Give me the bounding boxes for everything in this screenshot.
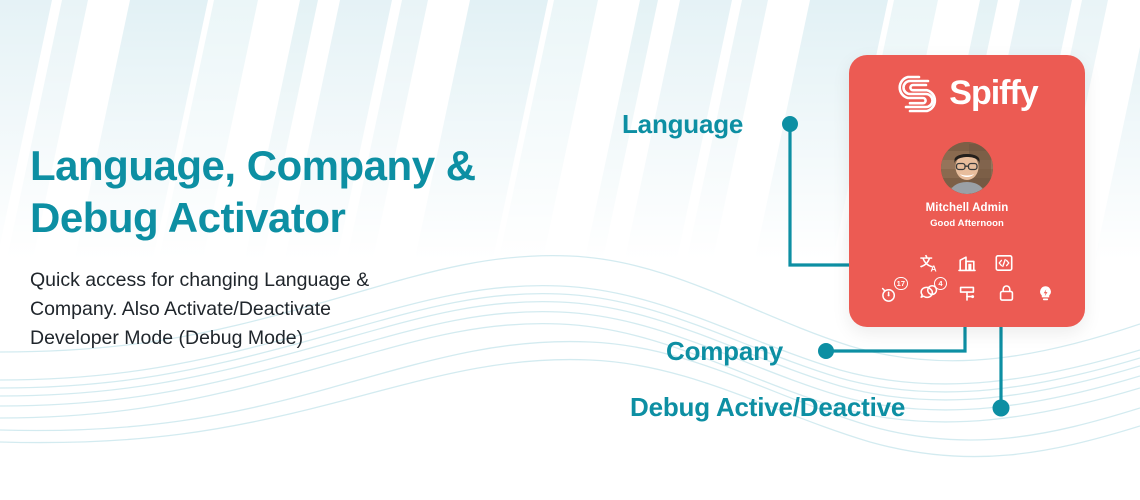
connector-dot-company — [818, 343, 834, 359]
user-greeting: Good Afternoon — [849, 218, 1085, 229]
card-status-icon-row: 17 4 — [849, 283, 1085, 303]
avatar-photo — [941, 142, 993, 194]
spiffy-user-card: Spiffy — [849, 55, 1085, 327]
user-name: Mitchell Admin — [849, 202, 1085, 214]
connector-dot-debug — [993, 400, 1010, 417]
timer-badge-count: 17 — [894, 277, 908, 290]
avatar — [941, 142, 993, 194]
connector-dot-language — [782, 116, 798, 132]
company-building-icon[interactable] — [957, 253, 977, 273]
card-quick-action-row: 文 A — [849, 253, 1085, 273]
callout-label-debug: Debug Active/Deactive — [630, 392, 905, 423]
stopwatch-timer-icon[interactable]: 17 — [879, 283, 899, 303]
code-debug-icon[interactable] — [994, 253, 1014, 273]
spiffy-logo: Spiffy — [849, 73, 1085, 113]
messages-badge-count: 4 — [934, 277, 947, 290]
callout-label-company: Company — [666, 336, 783, 367]
lock-icon[interactable] — [996, 283, 1016, 303]
lightbulb-power-icon[interactable] — [1035, 283, 1055, 303]
callout-label-language: Language — [622, 109, 743, 140]
spiffy-brand-name: Spiffy — [949, 76, 1037, 110]
translate-icon[interactable]: 文 A — [920, 253, 940, 273]
spiffy-paperclip-s-logo-icon — [896, 73, 942, 113]
chat-bubble-icon[interactable]: 4 — [918, 283, 938, 303]
slide-canvas: Language, Company & Debug Activator Quic… — [0, 0, 1140, 500]
svg-text:A: A — [931, 263, 937, 273]
activity-clipboard-icon[interactable] — [957, 283, 977, 303]
